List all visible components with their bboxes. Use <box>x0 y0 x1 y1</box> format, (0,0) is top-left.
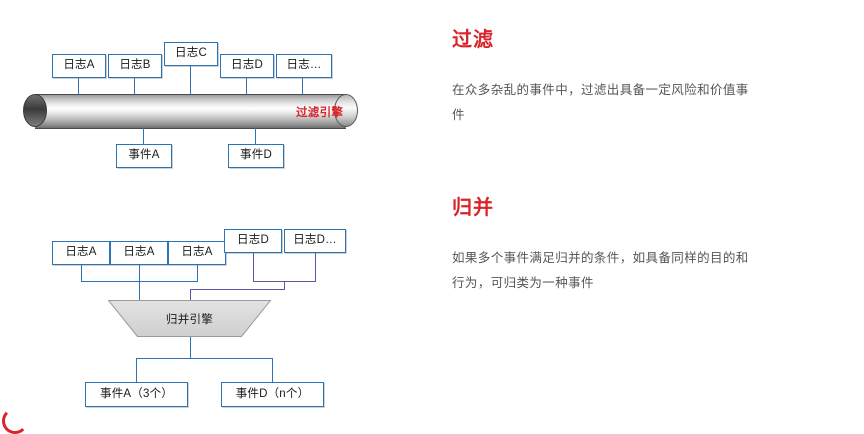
merge-log-box-5: 日志D… <box>284 229 346 253</box>
filter-log-box-4: 日志D <box>220 54 274 78</box>
section-merge: 归并 如果多个事件满足归并的条件，如具备同样的目的和行为，可归类为一种事件 <box>452 196 752 296</box>
merge-engine-shape: 归并引擎 <box>108 300 271 337</box>
merge-bus-down-left <box>139 281 140 300</box>
merge-log-box-2: 日志A <box>110 241 168 265</box>
filter-engine-label: 过滤引擎 <box>296 104 343 120</box>
merge-output-stem <box>190 337 191 358</box>
filter-output-connector-a <box>143 127 144 144</box>
section-merge-body: 如果多个事件满足归并的条件，如具备同样的目的和行为，可归类为一种事件 <box>452 246 752 296</box>
merge-log-connector-1 <box>81 265 82 281</box>
filter-log-box-5: 日志… <box>276 54 332 78</box>
filter-log-box-2: 日志B <box>108 54 162 78</box>
merge-bus-down-right <box>284 281 285 289</box>
filter-log-box-3: 日志C <box>164 42 218 66</box>
section-filter-body: 在众多杂乱的事件中，过滤出具备一定风险和价值事件 <box>452 78 752 128</box>
filter-log-box-1: 日志A <box>52 54 106 78</box>
merge-log-connector-4 <box>253 253 254 281</box>
merge-log-box-3: 日志A <box>168 241 226 265</box>
merge-output-connector-d <box>272 358 273 382</box>
merge-log-connector-5 <box>315 253 316 281</box>
section-filter-title: 过滤 <box>452 28 752 52</box>
merge-bus-down-center <box>190 289 191 300</box>
merge-bus-join-right <box>190 289 285 290</box>
filter-event-box-a: 事件A <box>116 144 172 168</box>
filter-event-box-d: 事件D <box>228 144 284 168</box>
merge-event-box-d: 事件D（n个） <box>221 382 324 407</box>
section-filter: 过滤 在众多杂乱的事件中，过滤出具备一定风险和价值事件 <box>452 28 752 128</box>
merge-engine-label: 归并引擎 <box>108 300 271 337</box>
pipe-cap-left <box>23 94 47 127</box>
section-merge-title: 归并 <box>452 196 752 220</box>
merge-output-bar <box>136 358 272 359</box>
merge-log-box-1: 日志A <box>52 241 110 265</box>
filter-output-connector-d <box>255 127 256 144</box>
merge-output-connector-a <box>136 358 137 382</box>
decorative-arc <box>2 408 28 434</box>
merge-log-box-4: 日志D <box>224 229 282 253</box>
decorative-quote-mark <box>2 406 36 432</box>
merge-log-connector-3 <box>197 265 198 281</box>
diagram-canvas: 日志A 日志B 日志C 日志D 日志… 过滤引擎 事件A 事件D 日志A 日志A… <box>0 0 864 427</box>
merge-log-connector-2 <box>139 265 140 281</box>
merge-event-box-a: 事件A（3个） <box>85 382 188 407</box>
